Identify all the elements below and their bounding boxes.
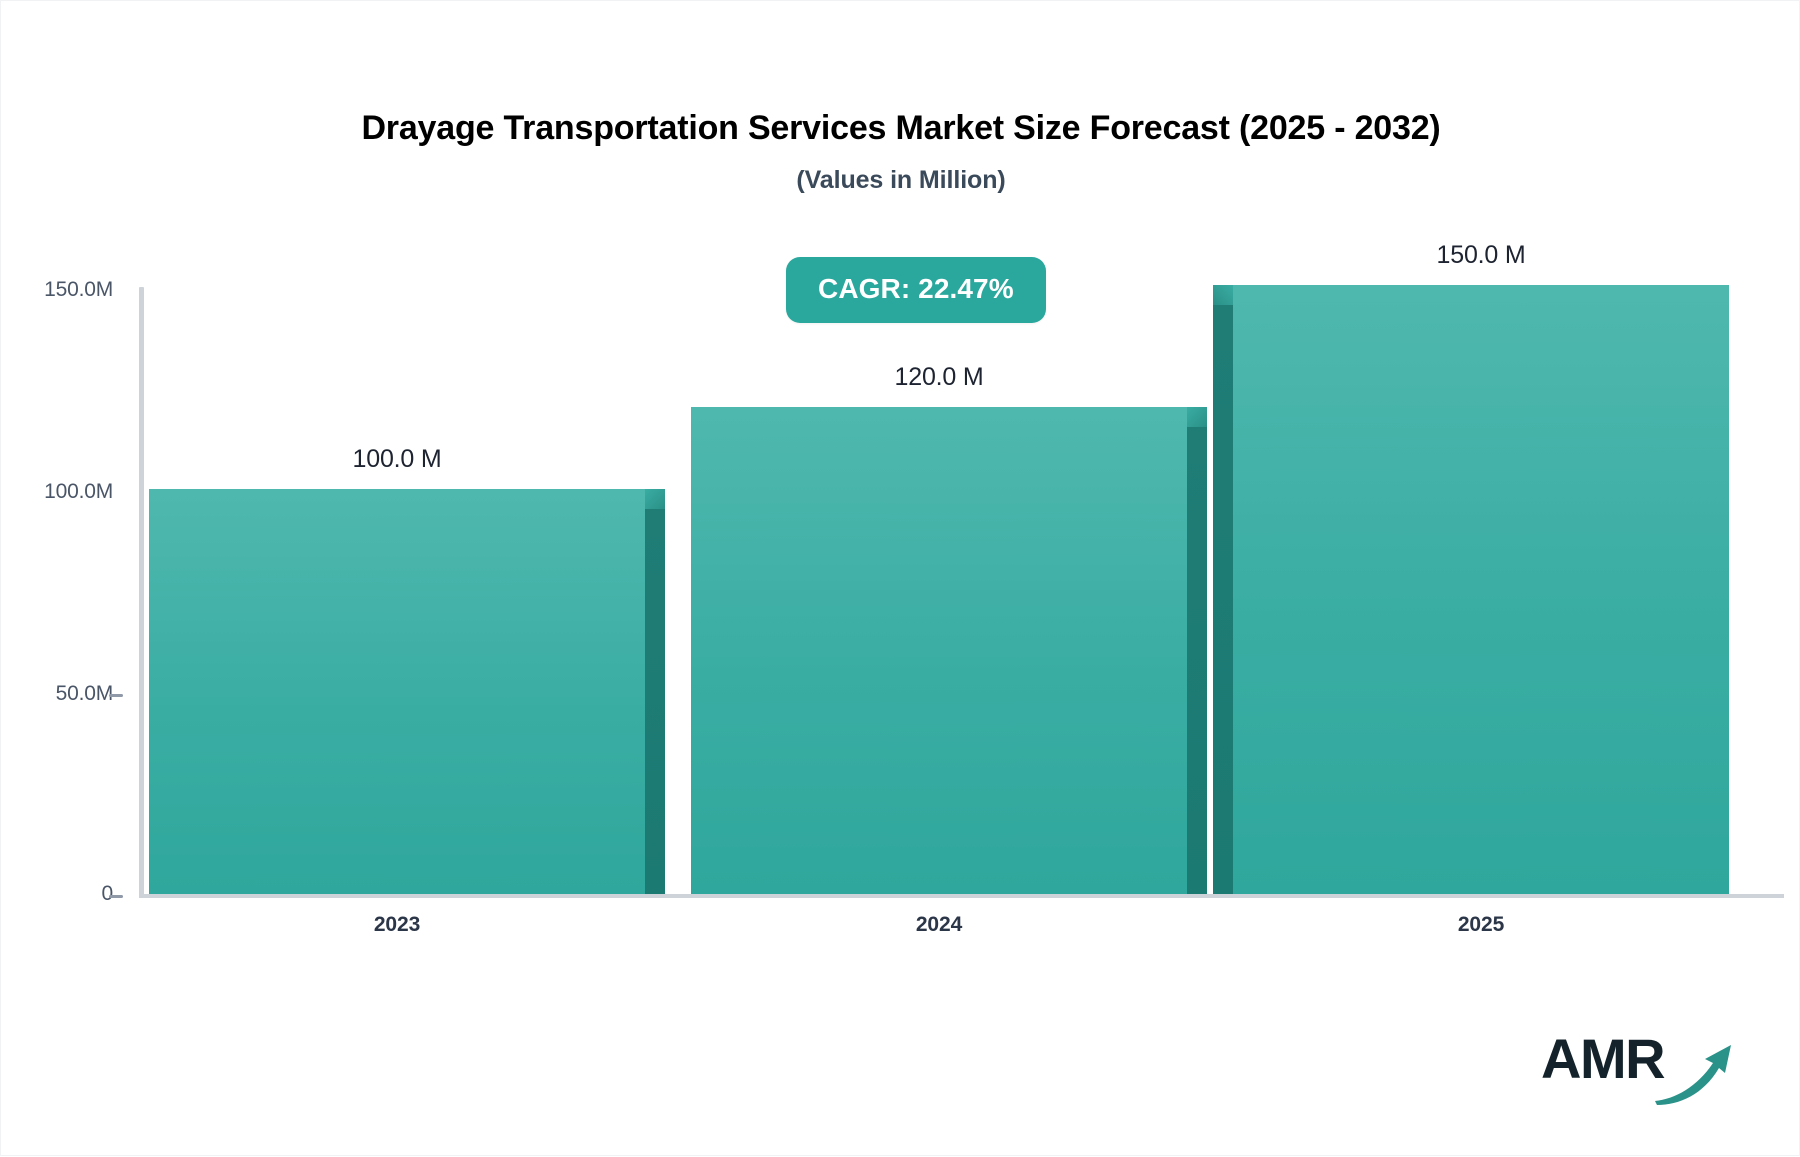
y-tick-label-100: 100.0M [44,480,113,504]
bar-side-2024 [1187,422,1207,894]
bar-bevel-2024 [1187,407,1207,427]
bar-2024[interactable]: 120.0 M [691,407,1187,894]
bar-value-label-2024: 120.0 M [691,363,1187,392]
chart-page: Drayage Transportation Services Market S… [0,0,1800,1156]
bar-face-2023 [149,489,645,894]
bar-2023[interactable]: 100.0 M [149,489,645,894]
amr-logo-text: AMR [1541,1031,1664,1087]
y-tick-label-0: 0 [102,882,113,906]
cagr-badge: CAGR: 22.47% [786,257,1046,323]
bar-2025[interactable]: 150.0 M [1233,285,1729,894]
bar-side-2023 [645,504,665,894]
growth-arrow-icon [1653,1043,1733,1105]
x-tick-label-2025: 2025 [1233,913,1729,937]
y-axis-line [139,287,144,897]
x-axis-baseline [139,894,1784,898]
bar-value-label-2025: 150.0 M [1233,241,1729,270]
x-tick-label-2024: 2024 [691,913,1187,937]
bar-face-2025 [1233,285,1729,894]
x-tick-label-2023: 2023 [149,913,645,937]
plot-area: 150.0M 100.0M 50.0M 0 100.0 M 120.0 M 15… [1,1,1800,1157]
bar-bevel-2023 [645,489,665,509]
y-tick-label-150: 150.0M [44,278,113,302]
bar-side-2025 [1213,300,1233,894]
y-tick-mark-50 [109,694,123,697]
bar-bevel-2025 [1213,285,1233,305]
y-tick-label-50: 50.0M [56,682,113,706]
amr-logo: AMR [1541,1031,1731,1111]
bar-face-2024 [691,407,1187,894]
bar-value-label-2023: 100.0 M [149,445,645,474]
y-tick-mark-0 [109,895,123,898]
